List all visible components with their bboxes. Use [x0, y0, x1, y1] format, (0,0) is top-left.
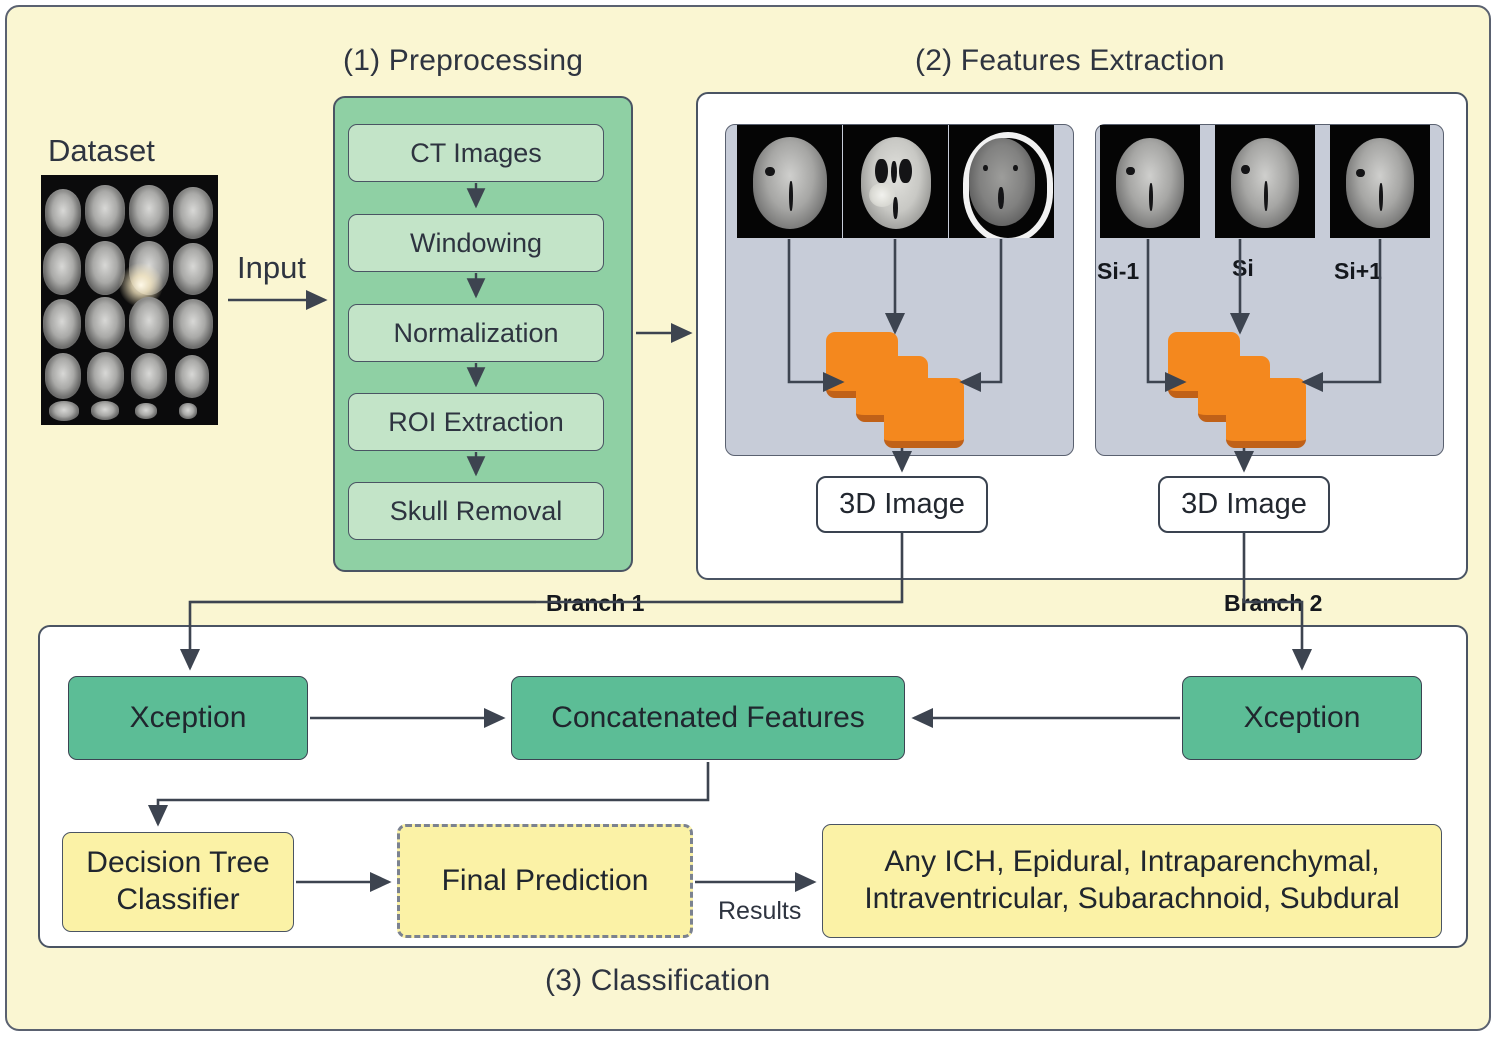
branch1-3d-image-box[interactable]: 3D Image	[816, 476, 988, 533]
slice-label-si-plus-1: Si+1	[1334, 258, 1382, 285]
branch2-orange-slice-stack	[1160, 330, 1320, 450]
section-title-features-extraction: (2) Features Extraction	[915, 44, 1225, 78]
ct-thumbnail-branch2-current	[1215, 125, 1315, 238]
ct-thumbnail-branch1-3-bone-window	[949, 125, 1054, 238]
preprocessing-step-ct-images[interactable]: CT Images	[348, 124, 604, 182]
dataset-label: Dataset	[48, 133, 155, 169]
preprocessing-step-label: CT Images	[410, 138, 542, 169]
xception-right-box[interactable]: Xception	[1182, 676, 1422, 760]
preprocessing-step-label: ROI Extraction	[388, 407, 564, 438]
slice-label-si: Si	[1232, 255, 1254, 282]
decision-tree-label-line1: Decision Tree	[86, 845, 269, 882]
decision-tree-classifier-box[interactable]: Decision Tree Classifier	[62, 832, 294, 932]
branch2-3d-image-box[interactable]: 3D Image	[1158, 476, 1330, 533]
output-classes-line2: Intraventricular, Subarachnoid, Subdural	[864, 881, 1399, 918]
section-title-classification: (3) Classification	[545, 964, 770, 998]
preprocessing-step-label: Windowing	[410, 228, 542, 259]
section-title-preprocessing: (1) Preprocessing	[343, 44, 583, 78]
ct-thumbnail-branch2-prev	[1100, 125, 1200, 238]
output-classes-box[interactable]: Any ICH, Epidural, Intraparenchymal, Int…	[822, 824, 1442, 938]
xception-right-label: Xception	[1244, 701, 1361, 735]
results-arrow-label: Results	[718, 897, 801, 926]
ct-thumbnail-branch1-2	[843, 125, 948, 238]
slice-label-si-minus-1: Si-1	[1097, 258, 1139, 285]
decision-tree-label-line2: Classifier	[116, 882, 239, 919]
xception-left-box[interactable]: Xception	[68, 676, 308, 760]
concatenated-features-box[interactable]: Concatenated Features	[511, 676, 905, 760]
branch2-3d-image-label: 3D Image	[1181, 488, 1307, 521]
final-prediction-label: Final Prediction	[442, 863, 649, 900]
branch1-3d-image-label: 3D Image	[839, 488, 965, 521]
dataset-montage-image	[41, 175, 218, 425]
concatenated-features-label: Concatenated Features	[551, 701, 865, 735]
ct-thumbnail-branch1-1	[737, 125, 842, 238]
figure-canvas: (1) Preprocessing (2) Features Extractio…	[0, 0, 1500, 1038]
branch1-orange-slice-stack	[818, 330, 978, 450]
preprocessing-step-roi-extraction[interactable]: ROI Extraction	[348, 393, 604, 451]
preprocessing-step-windowing[interactable]: Windowing	[348, 214, 604, 272]
final-prediction-box[interactable]: Final Prediction	[397, 824, 693, 938]
branch-1-label: Branch 1	[540, 590, 650, 617]
preprocessing-step-skull-removal[interactable]: Skull Removal	[348, 482, 604, 540]
xception-left-label: Xception	[130, 701, 247, 735]
output-classes-line1: Any ICH, Epidural, Intraparenchymal,	[884, 844, 1379, 881]
ct-thumbnail-branch2-next	[1330, 125, 1430, 238]
input-arrow-label: Input	[237, 250, 306, 286]
preprocessing-step-label: Skull Removal	[390, 496, 563, 527]
branch-2-label: Branch 2	[1218, 590, 1328, 617]
preprocessing-step-label: Normalization	[393, 318, 558, 349]
preprocessing-step-normalization[interactable]: Normalization	[348, 304, 604, 362]
